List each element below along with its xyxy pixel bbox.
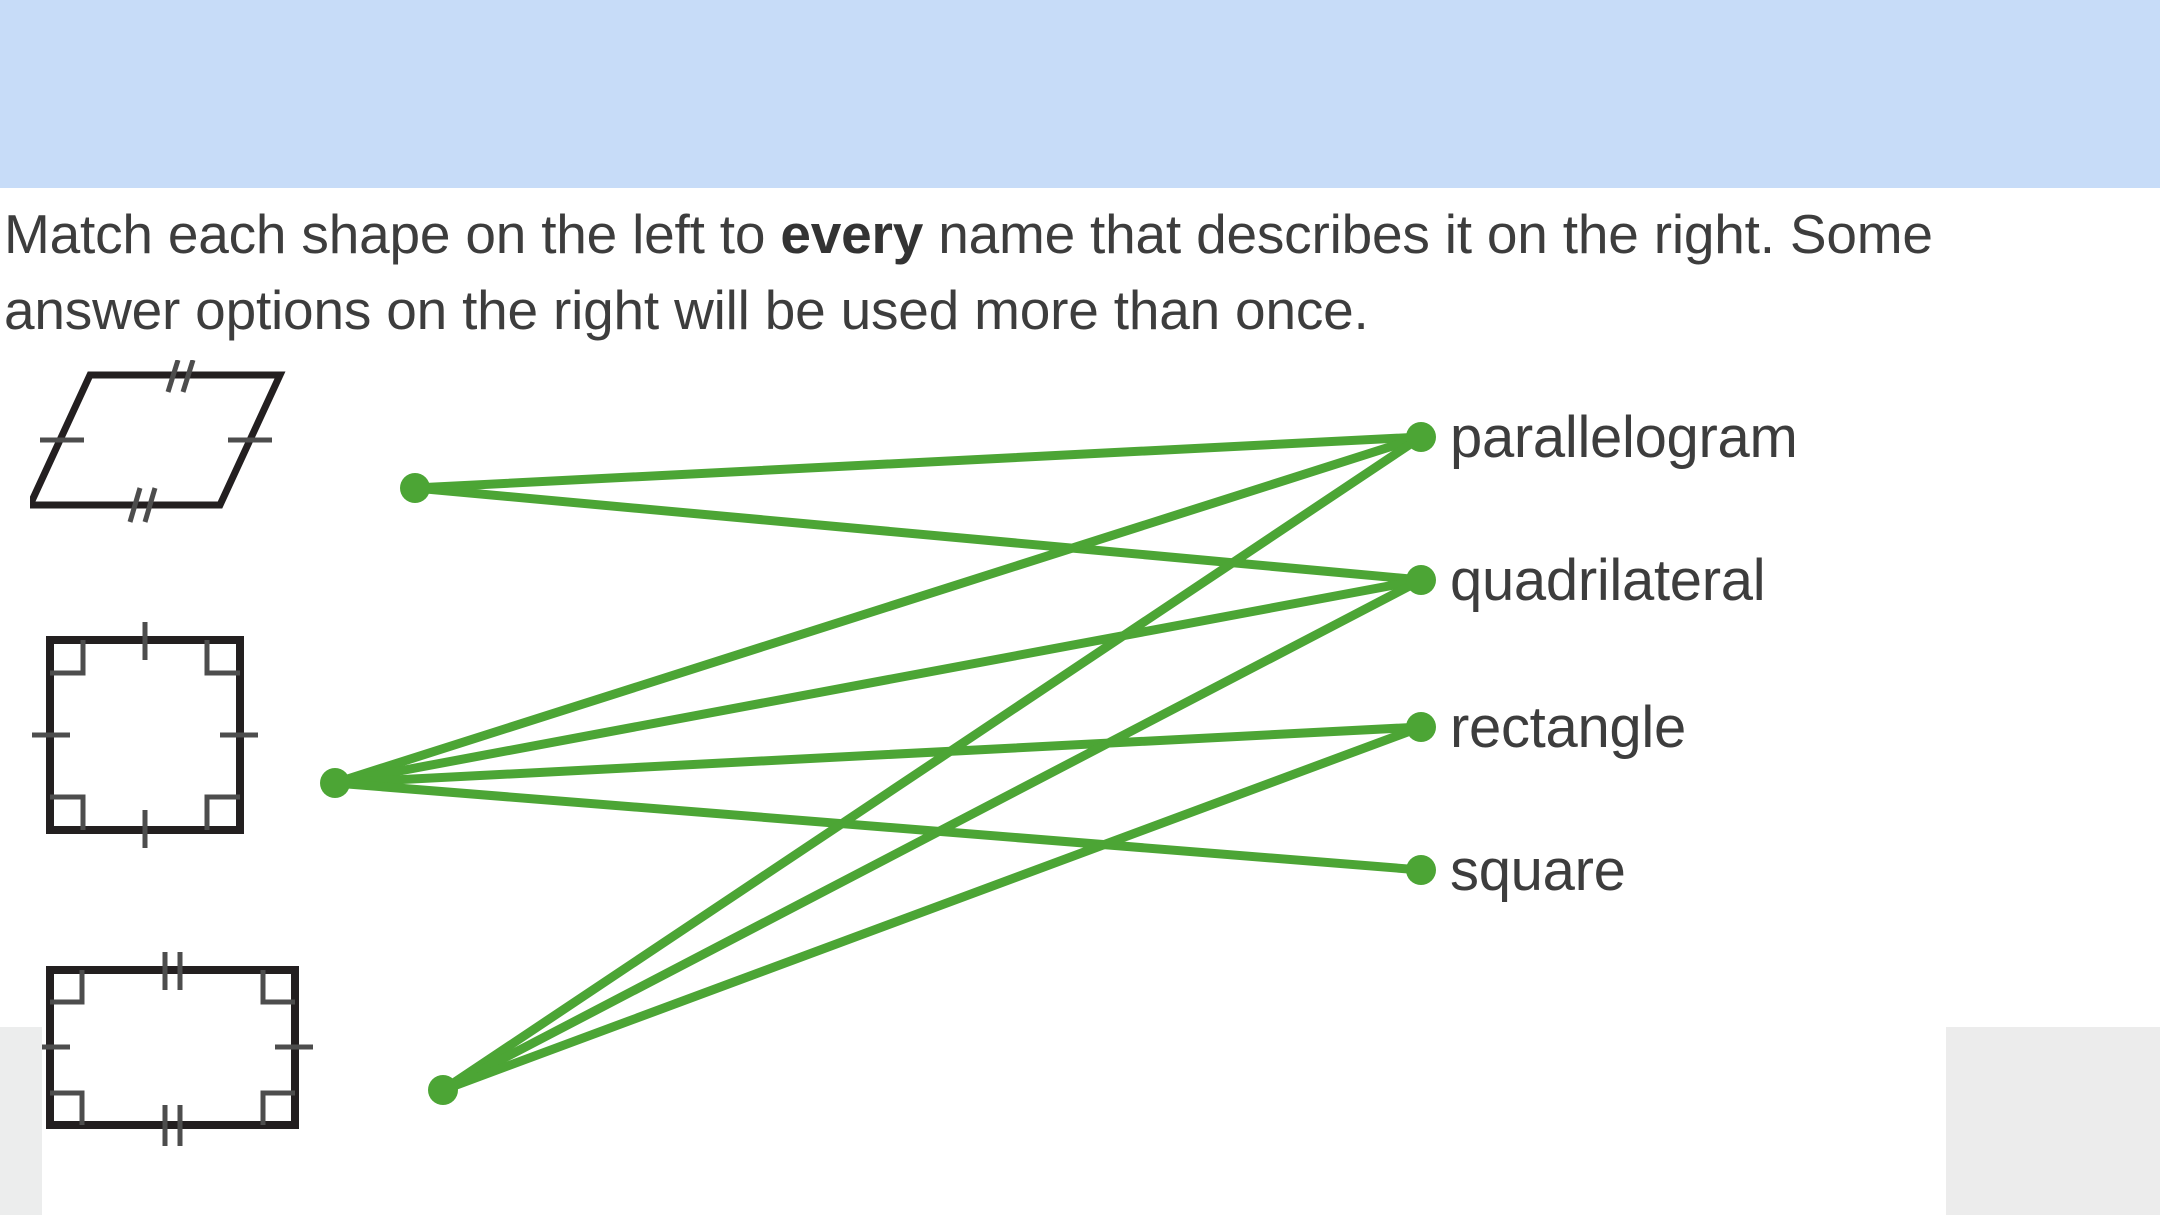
connector-node-shape-parallelogram[interactable] (400, 473, 430, 503)
connector-node-option-rectangle[interactable] (1406, 712, 1436, 742)
connection-line-parallelogram-to-parallelogram[interactable] (415, 437, 1421, 488)
connector-node-shape-square[interactable] (320, 768, 350, 798)
instruction-emphasis: every (780, 203, 923, 265)
option-label-parallelogram[interactable]: parallelogram (1450, 404, 1798, 471)
bottom-right-panel (1946, 1027, 2160, 1215)
connector-node-option-parallelogram[interactable] (1406, 422, 1436, 452)
instruction-part-1: Match each shape on the left to (4, 203, 780, 265)
connection-line-rectangle-to-rectangle[interactable] (443, 727, 1421, 1090)
instruction-part-2: name that describes it on the right. Som… (923, 203, 1933, 265)
edges-group (335, 437, 1421, 1090)
instruction-text: Match each shape on the left to every na… (4, 196, 2160, 348)
matching-question-page: Match each shape on the left to every na… (0, 0, 2160, 1215)
bottom-left-panel (0, 1027, 42, 1215)
option-label-quadrilateral[interactable]: quadrilateral (1450, 547, 1765, 614)
connection-line-rectangle-to-quadrilateral[interactable] (443, 580, 1421, 1090)
option-label-square[interactable]: square (1450, 837, 1626, 904)
connector-node-option-quadrilateral[interactable] (1406, 565, 1436, 595)
connector-node-option-square[interactable] (1406, 855, 1436, 885)
connection-lines-layer (0, 330, 2160, 1215)
header-band (0, 0, 2160, 188)
nodes-group (320, 422, 1436, 1105)
connector-node-shape-rectangle[interactable] (428, 1075, 458, 1105)
matching-diagram: parallelogram quadrilateral rectangle sq… (0, 330, 2160, 1215)
option-label-rectangle[interactable]: rectangle (1450, 694, 1686, 761)
